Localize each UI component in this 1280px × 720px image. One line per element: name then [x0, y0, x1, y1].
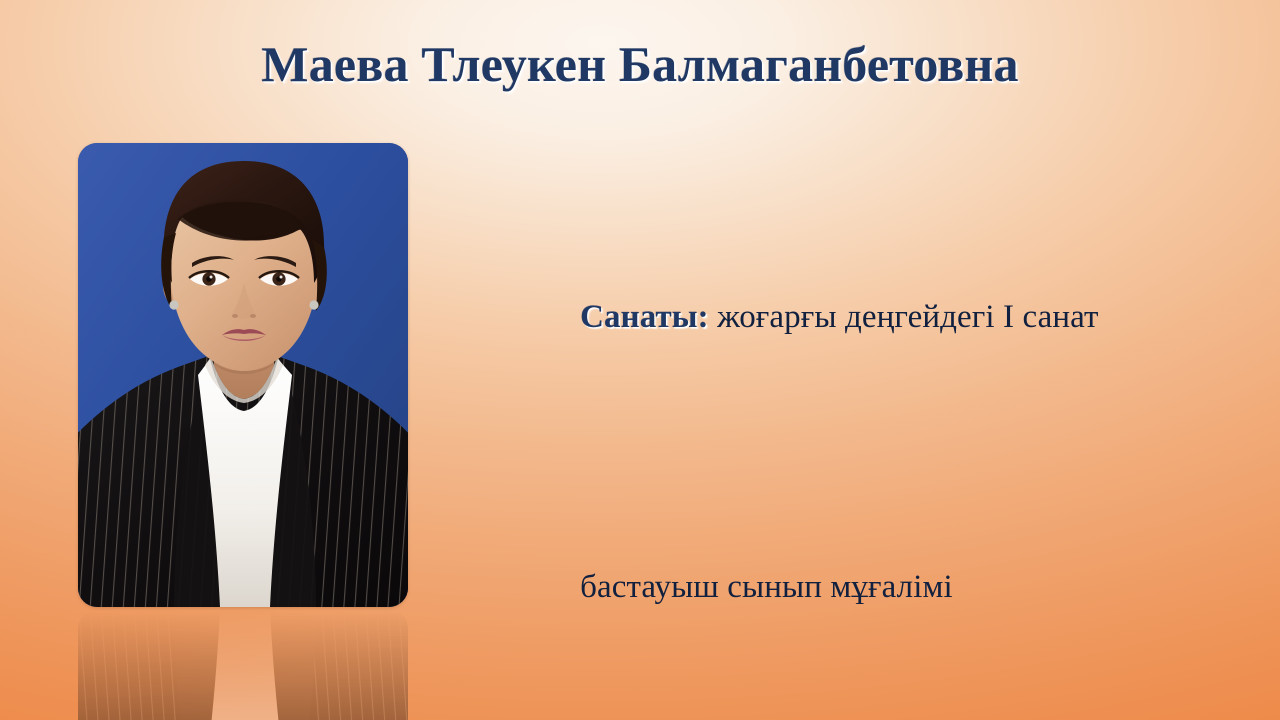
text-line-position: бастауыш сынып мұғалімі [530, 452, 1230, 720]
value-category: жоғарғы деңгейдегі I санат [709, 299, 1099, 335]
portrait-image [78, 143, 408, 607]
value-position: бастауыш сынып мұғалімі [580, 569, 953, 605]
text-line-category: Санаты: жоғарғы деңгейдегі I санат [530, 182, 1230, 452]
portrait-photo-frame [78, 143, 408, 607]
portrait-reflection-image [78, 609, 408, 720]
label-category: Санаты: [580, 299, 709, 335]
presentation-slide: Маева Тлеукен Балмаганбетовна [0, 0, 1280, 720]
page-title: Маева Тлеукен Балмаганбетовна [0, 36, 1280, 92]
portrait-photo[interactable] [78, 143, 408, 607]
portrait-photo-reflection [78, 609, 408, 720]
slide-body-text: Санаты: жоғарғы деңгейдегі I санат баста… [530, 182, 1230, 720]
